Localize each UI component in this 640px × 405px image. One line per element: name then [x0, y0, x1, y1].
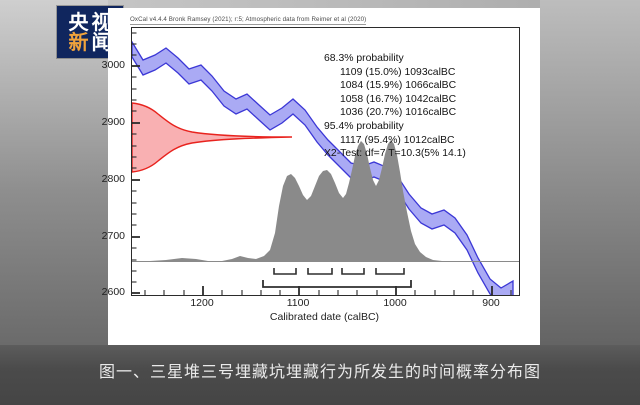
stat-line-3: 1058 (16.7%) 1042calBC: [324, 93, 466, 107]
y-tick-2800: 2800: [65, 173, 125, 185]
screenshot-root: 央 视 新 闻 OxCal v4.4.4 Bronk Ramsey (2021)…: [0, 0, 640, 405]
x-tick-900: 900: [482, 297, 500, 309]
y-tick-2700: 2700: [65, 230, 125, 242]
sigma2-range-bracket: [263, 280, 411, 287]
x-tick-1000: 1000: [383, 297, 406, 309]
x-tick-1200: 1200: [190, 297, 213, 309]
stat-line-7: X2-Test: df=7 T=10.3(5% 14.1): [324, 147, 466, 161]
sigma1-bracket-4: [376, 268, 404, 274]
sigma1-range-brackets: [274, 268, 404, 274]
stat-line-5: 95.4% probability: [324, 120, 466, 134]
x-axis-label: Calibrated date (calBC): [131, 311, 518, 323]
x-tick-1100: 1100: [287, 297, 310, 309]
statistics-annotation: 68.3% probability 1109 (15.0%) 1093calBC…: [324, 52, 466, 161]
y-tick-3000: 3000: [65, 59, 125, 71]
logo-char-yang: 央: [69, 12, 89, 32]
y-tick-2600: 2600: [65, 286, 125, 298]
stat-line-0: 68.3% probability: [324, 52, 466, 66]
figure-caption: 图一、三星堆三号埋藏坑埋藏行为所发生的时间概率分布图: [0, 358, 640, 382]
y-tick-2900: 2900: [65, 116, 125, 128]
sigma1-bracket-2: [308, 268, 332, 274]
stat-line-6: 1117 (95.4%) 1012calBC: [324, 134, 466, 148]
stat-line-4: 1036 (20.7%) 1016calBC: [324, 106, 466, 120]
sigma1-bracket-3: [342, 268, 364, 274]
logo-line-bottom: 新 闻: [69, 32, 112, 52]
stat-line-1: 1109 (15.0%) 1093calBC: [324, 66, 466, 80]
logo-line-top: 央 视: [69, 12, 112, 32]
background-right-panel: [540, 0, 640, 348]
logo-char-xin: 新: [69, 32, 89, 52]
sigma1-bracket-1: [274, 268, 296, 274]
stat-line-2: 1084 (15.9%) 1066calBC: [324, 79, 466, 93]
figure-card: OxCal v4.4.4 Bronk Ramsey (2021); r:5; A…: [108, 8, 540, 345]
